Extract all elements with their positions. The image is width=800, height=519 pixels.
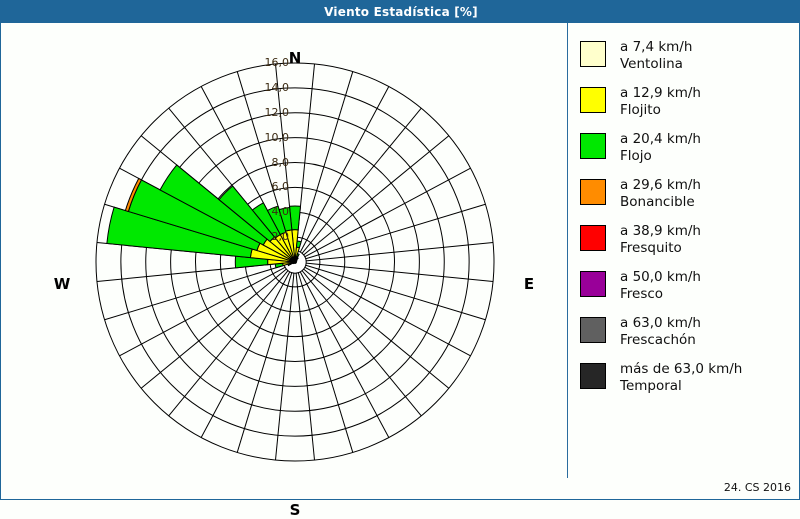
legend-category-name: Fresquito — [620, 240, 701, 257]
legend-swatch — [580, 317, 606, 343]
legend-label: a 38,9 km/hFresquito — [620, 223, 701, 257]
legend-swatch — [580, 363, 606, 389]
legend-range: a 12,9 km/h — [620, 85, 701, 102]
legend-swatch — [580, 225, 606, 251]
radial-tick-label: 12,0 — [249, 106, 289, 119]
legend-category-name: Bonancible — [620, 194, 701, 211]
legend-swatch — [580, 271, 606, 297]
legend-range: a 38,9 km/h — [620, 223, 701, 240]
grid-spoke — [296, 273, 314, 460]
legend-item[interactable]: a 20,4 km/hFlojo — [580, 131, 800, 165]
grid-spoke — [300, 272, 389, 438]
grid-spoke — [275, 273, 293, 460]
legend-label: más de 63,0 km/hTemporal — [620, 361, 742, 395]
grid-spoke — [305, 168, 471, 257]
compass-label-west: W — [39, 275, 85, 293]
legend-swatch — [580, 179, 606, 205]
legend-label: a 63,0 km/hFrescachón — [620, 315, 701, 349]
wind-rose-plot: N E S W 2,04,06,08,010,012,014,016,0 — [1, 23, 561, 501]
legend-label: a 7,4 km/hVentolina — [620, 39, 692, 73]
legend-item[interactable]: a 50,0 km/hFresco — [580, 269, 800, 303]
legend-range: a 20,4 km/h — [620, 131, 701, 148]
wind-rose-window: Viento Estadística [%] N E S W 2,04,06,0… — [0, 0, 800, 500]
grid-spoke — [306, 242, 493, 260]
grid-spoke — [306, 263, 493, 281]
legend-item[interactable]: más de 63,0 km/hTemporal — [580, 361, 800, 395]
radial-tick-label: 10,0 — [249, 131, 289, 144]
radial-tick-label: 6,0 — [249, 180, 289, 193]
legend-range: a 50,0 km/h — [620, 269, 701, 286]
legend-item[interactable]: a 38,9 km/hFresquito — [580, 223, 800, 257]
window-title-bar: Viento Estadística [%] — [1, 1, 800, 23]
legend-swatch — [580, 87, 606, 113]
wind-rose-svg — [1, 23, 561, 501]
grid-spoke — [119, 267, 285, 356]
rose-petal-segment — [296, 241, 301, 248]
compass-label-east: E — [506, 275, 552, 293]
legend-range: a 29,6 km/h — [620, 177, 701, 194]
legend-category-name: Temporal — [620, 378, 742, 395]
legend: a 7,4 km/hVentolinaa 12,9 km/hFlojitoa 2… — [567, 23, 800, 478]
rose-petal-segment — [297, 258, 298, 260]
legend-range: más de 63,0 km/h — [620, 361, 742, 378]
legend-item[interactable]: a 29,6 km/hBonancible — [580, 177, 800, 211]
page-title: Viento Estadística [%] — [324, 5, 478, 19]
grid-spoke — [201, 272, 290, 438]
legend-category-name: Ventolina — [620, 56, 692, 73]
radial-tick-label: 2,0 — [249, 230, 289, 243]
legend-label: a 29,6 km/hBonancible — [620, 177, 701, 211]
legend-category-name: Flojo — [620, 148, 701, 165]
legend-label: a 12,9 km/hFlojito — [620, 85, 701, 119]
date-stamp: 24. CS 2016 — [724, 481, 791, 494]
legend-item[interactable]: a 12,9 km/hFlojito — [580, 85, 800, 119]
legend-item[interactable]: a 63,0 km/hFrescachón — [580, 315, 800, 349]
grid-spoke — [305, 267, 471, 356]
legend-category-name: Fresco — [620, 286, 701, 303]
radial-tick-label: 16,0 — [249, 56, 289, 69]
legend-swatch — [580, 133, 606, 159]
grid-spoke — [300, 86, 389, 252]
legend-category-name: Frescachón — [620, 332, 701, 349]
legend-range: a 63,0 km/h — [620, 315, 701, 332]
radial-tick-label: 14,0 — [249, 81, 289, 94]
compass-label-south: S — [272, 501, 318, 519]
legend-item[interactable]: a 7,4 km/hVentolina — [580, 39, 800, 73]
legend-label: a 50,0 km/hFresco — [620, 269, 701, 303]
legend-swatch — [580, 41, 606, 67]
radial-tick-label: 4,0 — [249, 205, 289, 218]
legend-category-name: Flojito — [620, 102, 701, 119]
radial-tick-label: 8,0 — [249, 156, 289, 169]
legend-range: a 7,4 km/h — [620, 39, 692, 56]
legend-label: a 20,4 km/hFlojo — [620, 131, 701, 165]
